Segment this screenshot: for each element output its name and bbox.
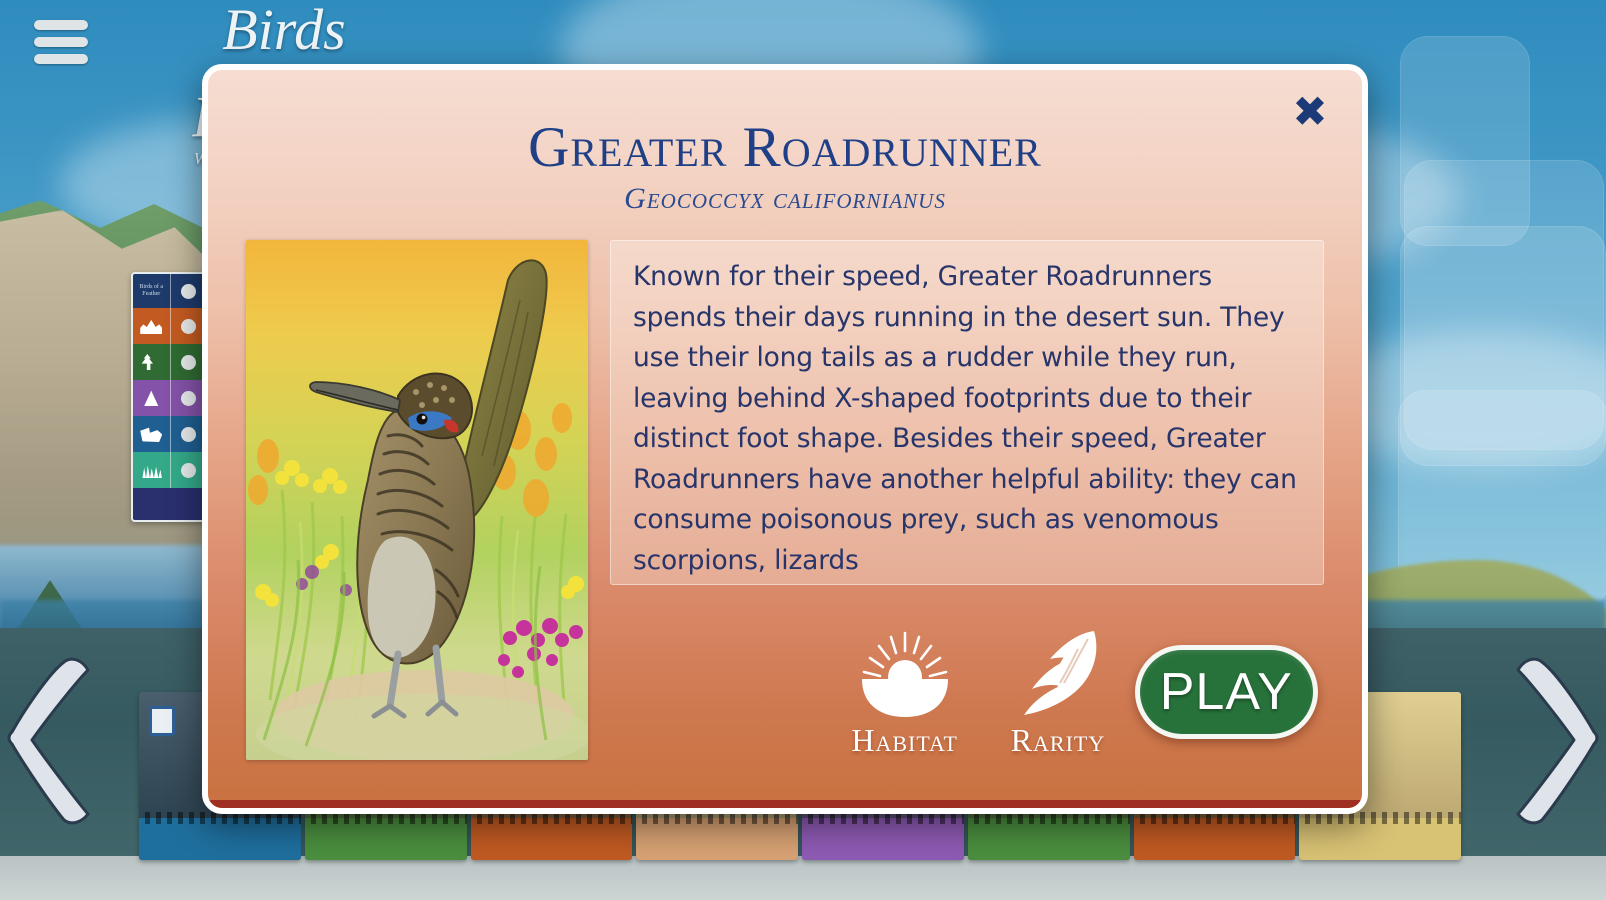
habitat-label: Habitat	[851, 723, 958, 757]
water-habitat-icon	[140, 426, 162, 442]
chevron-left-icon[interactable]	[6, 652, 102, 832]
card-tab	[1134, 818, 1296, 860]
hamburger-menu-icon[interactable]	[34, 20, 88, 64]
sunrise-desert-icon	[850, 627, 960, 717]
legend-habitat-cell	[133, 452, 170, 488]
legend-habitat-cell	[133, 344, 170, 380]
desert-habitat-icon	[140, 318, 162, 334]
bird-illustration	[246, 240, 588, 760]
forest-habitat-icon	[140, 354, 162, 370]
bird-scientific-name: Geococcyx californianus	[208, 182, 1362, 216]
legend-row-forest[interactable]	[133, 344, 207, 380]
menu-bar	[34, 54, 88, 64]
card-tab	[802, 818, 964, 860]
chevron-right-icon[interactable]	[1504, 652, 1600, 832]
menu-bar	[34, 20, 88, 30]
legend-row-mountain[interactable]	[133, 380, 207, 416]
habitat-legend-panel[interactable]: Birds of a Feather	[131, 272, 209, 522]
legend-row-desert[interactable]	[133, 308, 207, 344]
legend-dot	[181, 319, 196, 334]
legend-habitat-cell	[133, 416, 170, 452]
wing-icon	[998, 627, 1118, 717]
legend-dot	[181, 355, 196, 370]
modal-action-row: Habitat Rarity PLAY	[828, 612, 1318, 772]
habitat-info-button[interactable]: Habitat	[828, 627, 981, 757]
legend-dot	[181, 463, 196, 478]
card-tab	[636, 818, 798, 860]
game-title-line1: Birds	[104, 2, 464, 58]
legend-row-grass[interactable]	[133, 452, 207, 488]
card-badge-icon	[149, 706, 175, 736]
play-button[interactable]: PLAY	[1135, 645, 1318, 739]
close-x-icon[interactable]: ✖	[1290, 92, 1330, 132]
play-button-label: PLAY	[1160, 666, 1293, 718]
menu-bar	[34, 37, 88, 47]
grass-habitat-icon	[140, 462, 162, 478]
card-tab	[471, 818, 633, 860]
legend-dot	[181, 391, 196, 406]
legend-footer-row	[133, 488, 207, 520]
legend-habitat-cell	[133, 308, 170, 344]
legend-header-label: Birds of a Feather	[133, 274, 170, 308]
legend-dot	[181, 427, 196, 442]
card-tab	[139, 818, 301, 860]
legend-row-water[interactable]	[133, 416, 207, 452]
mountain-habitat-icon	[140, 390, 162, 406]
game-screen: Birds of a Feather Western North America…	[0, 0, 1606, 900]
floor-shelf-decor	[0, 856, 1606, 900]
card-tab	[968, 818, 1130, 860]
card-tab	[1299, 818, 1461, 860]
rarity-label: Rarity	[1011, 723, 1106, 757]
legend-header-row: Birds of a Feather	[133, 274, 207, 308]
legend-habitat-cell	[133, 380, 170, 416]
rarity-info-button[interactable]: Rarity	[981, 627, 1134, 757]
legend-dot	[181, 284, 196, 299]
bird-detail-modal: ✖ Greater Roadrunner Geococcyx californi…	[202, 64, 1368, 814]
bird-name-title: Greater Roadrunner	[208, 118, 1362, 178]
card-tab	[305, 818, 467, 860]
bird-description-text: Known for their speed, Greater Roadrunne…	[610, 240, 1324, 585]
